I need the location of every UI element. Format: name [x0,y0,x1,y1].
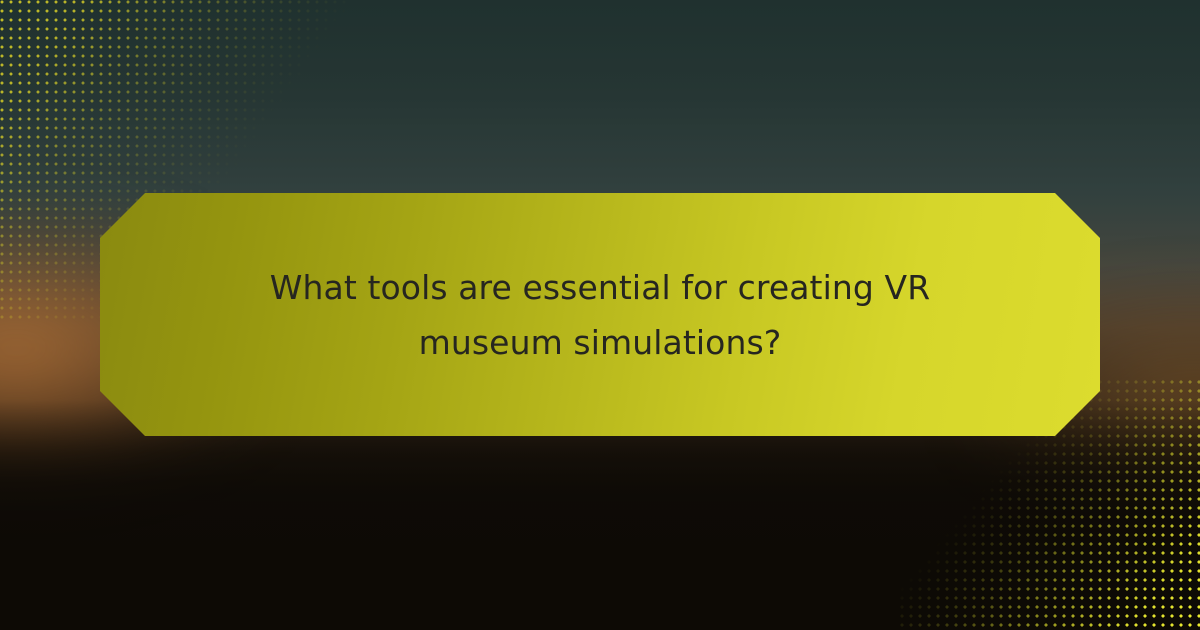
question-text: What tools are essential for creating VR… [250,260,950,370]
poster-canvas: What tools are essential for creating VR… [0,0,1200,630]
question-card: What tools are essential for creating VR… [100,193,1100,436]
